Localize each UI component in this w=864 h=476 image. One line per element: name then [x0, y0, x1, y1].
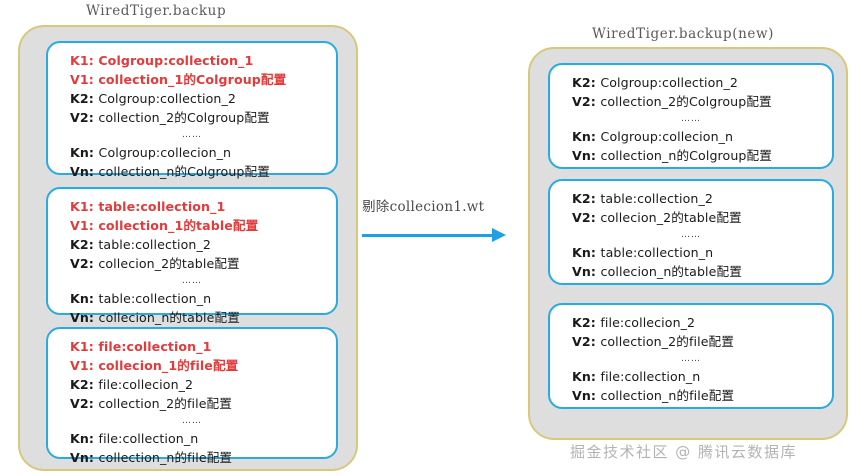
kv-value: file:collection_1 — [98, 339, 211, 354]
kv-value: collection_2的Colgroup配置 — [98, 110, 269, 125]
right-arrow-icon — [362, 234, 496, 237]
kv-value: table:collection_n — [99, 291, 212, 306]
kv-key: Vn: — [572, 264, 601, 279]
left-panel-caption: WiredTiger.backup — [86, 3, 226, 19]
kv-row: V2: collection_2的file配置 — [48, 394, 336, 413]
kv-row: Vn: collection_n的Colgroup配置 — [550, 146, 832, 165]
kv-value: Colgroup:collecion_n — [99, 145, 232, 160]
kv-key: Kn: — [70, 145, 99, 160]
kv-row: V1: collection_1的Colgroup配置 — [48, 70, 336, 89]
kv-row: K2: file:collecion_2 — [550, 313, 832, 332]
kv-key: V1: — [70, 72, 98, 87]
kv-row: Kn: Colgroup:collecion_n — [550, 127, 832, 146]
kv-key: K2: — [70, 91, 98, 106]
kv-value: collection_1的table配置 — [98, 218, 258, 233]
kv-row: V2: collection_2的Colgroup配置 — [550, 92, 832, 111]
kv-value: Colgroup:collecion_n — [601, 129, 734, 144]
kv-value: collection_1的Colgroup配置 — [98, 72, 286, 87]
kv-key: K2: — [70, 237, 98, 252]
card-file-new: K2: file:collecion_2V2: collection_2的fil… — [548, 303, 834, 409]
kv-key: K2: — [572, 191, 600, 206]
kv-row: V1: collection_1的table配置 — [48, 216, 336, 235]
kv-key: K2: — [572, 315, 600, 330]
kv-key: K2: — [70, 377, 98, 392]
kv-value: collection_n的file配置 — [601, 388, 735, 403]
kv-key: Kn: — [70, 431, 99, 446]
kv-key: V1: — [70, 218, 98, 233]
card-table-old: K1: table:collection_1V1: collection_1的t… — [46, 187, 338, 315]
kv-row: Vn: collection_n的file配置 — [48, 448, 336, 467]
kv-row: Kn: Colgroup:collecion_n — [48, 143, 336, 162]
kv-value: collecion_2的table配置 — [600, 210, 741, 225]
watermark: 掘金技术社区 @ 腾讯云数据库 — [570, 441, 797, 462]
kv-key: K1: — [70, 339, 98, 354]
kv-row: V2: collection_2的file配置 — [550, 332, 832, 351]
kv-key: Kn: — [572, 369, 601, 384]
kv-value: collecion_2的table配置 — [98, 256, 239, 271]
ellipsis-row: …… — [550, 227, 832, 243]
kv-key: K2: — [572, 75, 600, 90]
kv-row: Vn: collecion_n的table配置 — [48, 308, 336, 327]
kv-row: K2: table:collection_2 — [550, 189, 832, 208]
kv-key: Vn: — [572, 388, 601, 403]
kv-key: Vn: — [572, 148, 601, 163]
transition-label: 剔除collecion1.wt — [362, 195, 484, 215]
ellipsis-row: …… — [48, 273, 336, 289]
kv-key: Kn: — [70, 291, 99, 306]
ellipsis-row: …… — [550, 351, 832, 367]
kv-row: Vn: collection_n的file配置 — [550, 386, 832, 405]
diagram-canvas: WiredTiger.backup WiredTiger.backup(new)… — [0, 0, 864, 476]
ellipsis-row: …… — [48, 127, 336, 143]
kv-key: K1: — [70, 199, 98, 214]
kv-value: collecion_n的table配置 — [601, 264, 742, 279]
card-file-old: K1: file:collection_1V1: collecion_1的fil… — [46, 327, 338, 459]
ellipsis-row: …… — [48, 413, 336, 429]
kv-key: Kn: — [572, 245, 601, 260]
right-backup-panel: K2: Colgroup:collection_2V2: collection_… — [528, 47, 848, 440]
kv-value: collection_n的Colgroup配置 — [601, 148, 772, 163]
kv-row: K2: table:collection_2 — [48, 235, 336, 254]
kv-row: Vn: collecion_n的table配置 — [550, 262, 832, 281]
kv-value: table:collection_1 — [98, 199, 225, 214]
kv-value: collecion_n的table配置 — [99, 310, 240, 325]
transition-group: 剔除collecion1.wt — [362, 195, 512, 255]
left-backup-panel: K1: Colgroup:collection_1V1: collection_… — [18, 25, 358, 471]
kv-row: K2: Colgroup:collection_2 — [48, 89, 336, 108]
kv-row: K1: Colgroup:collection_1 — [48, 51, 336, 70]
kv-value: collection_n的Colgroup配置 — [99, 164, 270, 179]
card-table-new: K2: table:collection_2V2: collecion_2的ta… — [548, 179, 834, 285]
kv-value: Colgroup:collection_2 — [98, 91, 236, 106]
kv-value: file:collecion_2 — [98, 377, 193, 392]
kv-key: V1: — [70, 358, 98, 373]
kv-row: Vn: collection_n的Colgroup配置 — [48, 162, 336, 181]
kv-value: Colgroup:collection_1 — [98, 53, 253, 68]
kv-row: Kn: file:collection_n — [48, 429, 336, 448]
kv-value: collection_2的Colgroup配置 — [600, 94, 771, 109]
kv-key: Kn: — [572, 129, 601, 144]
kv-value: Colgroup:collection_2 — [600, 75, 738, 90]
kv-key: V2: — [572, 210, 600, 225]
kv-row: Kn: table:collection_n — [550, 243, 832, 262]
kv-value: table:collection_n — [601, 245, 714, 260]
kv-row: Kn: file:collection_n — [550, 367, 832, 386]
kv-value: table:collection_2 — [98, 237, 211, 252]
kv-value: collection_2的file配置 — [98, 396, 232, 411]
kv-key: Vn: — [70, 450, 99, 465]
kv-key: Vn: — [70, 164, 99, 179]
kv-row: V2: collection_2的Colgroup配置 — [48, 108, 336, 127]
kv-row: K2: file:collecion_2 — [48, 375, 336, 394]
kv-value: file:collection_n — [601, 369, 701, 384]
kv-row: K1: file:collection_1 — [48, 337, 336, 356]
kv-value: file:collecion_2 — [600, 315, 695, 330]
kv-key: K1: — [70, 53, 98, 68]
card-colgroup-new: K2: Colgroup:collection_2V2: collection_… — [548, 63, 834, 169]
kv-row: V1: collecion_1的file配置 — [48, 356, 336, 375]
kv-key: V2: — [70, 256, 98, 271]
kv-value: collection_2的file配置 — [600, 334, 734, 349]
kv-row: V2: collecion_2的table配置 — [550, 208, 832, 227]
kv-key: Vn: — [70, 310, 99, 325]
kv-key: V2: — [70, 110, 98, 125]
kv-key: V2: — [572, 334, 600, 349]
kv-value: collection_n的file配置 — [99, 450, 233, 465]
kv-row: K1: table:collection_1 — [48, 197, 336, 216]
right-panel-caption: WiredTiger.backup(new) — [592, 26, 774, 42]
kv-key: V2: — [572, 94, 600, 109]
card-colgroup-old: K1: Colgroup:collection_1V1: collection_… — [46, 41, 338, 175]
kv-value: file:collection_n — [99, 431, 199, 446]
kv-row: K2: Colgroup:collection_2 — [550, 73, 832, 92]
right-arrow-head-icon — [492, 228, 506, 242]
kv-value: collecion_1的file配置 — [98, 358, 238, 373]
kv-row: Kn: table:collection_n — [48, 289, 336, 308]
kv-row: V2: collecion_2的table配置 — [48, 254, 336, 273]
ellipsis-row: …… — [550, 111, 832, 127]
kv-value: table:collection_2 — [600, 191, 713, 206]
kv-key: V2: — [70, 396, 98, 411]
